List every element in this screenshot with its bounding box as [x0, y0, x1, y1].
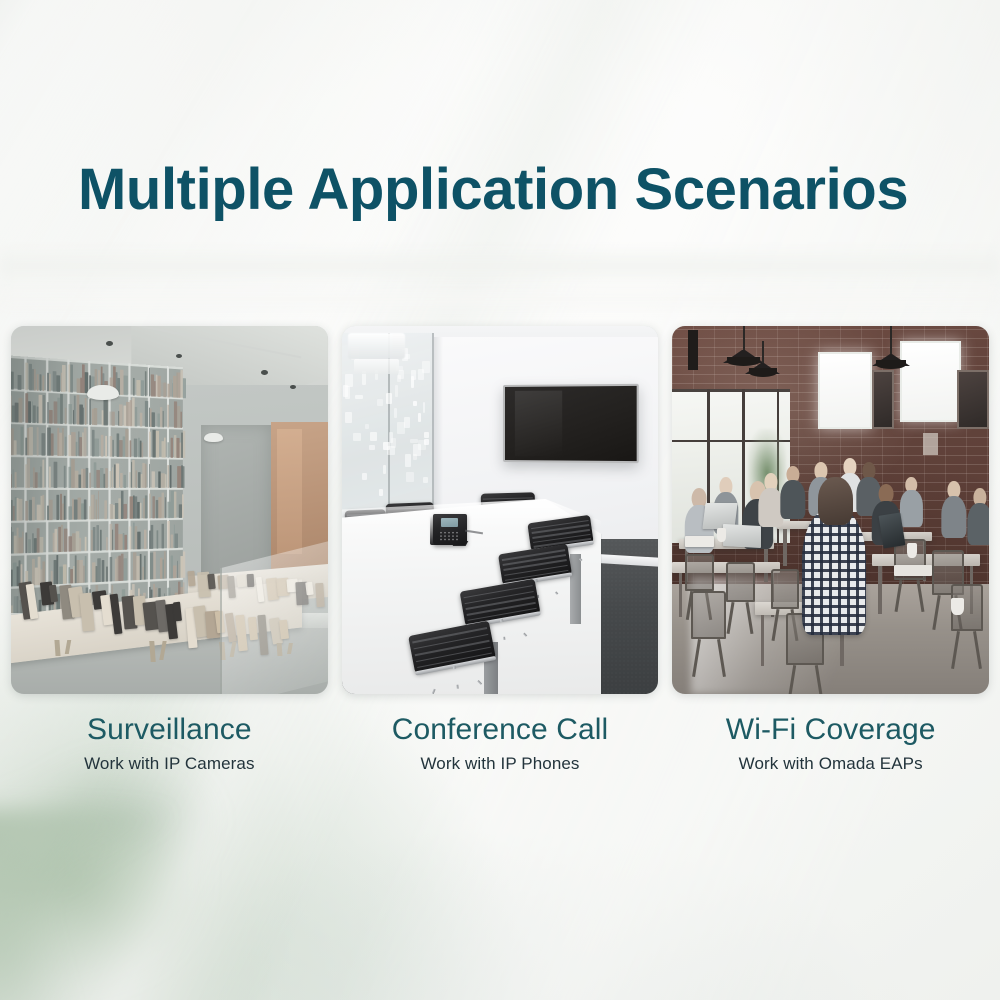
- scenario-card-wifi-coverage[interactable]: [672, 326, 989, 694]
- wall-art-1: [872, 370, 894, 429]
- ip-desk-phone: [430, 506, 470, 546]
- scenario-card-surveillance[interactable]: [11, 326, 328, 694]
- cafe-person: [780, 466, 805, 518]
- caption-title-conference-call: Conference Call: [342, 712, 659, 747]
- cafe-chair: [726, 562, 755, 602]
- page-title: Multiple Application Scenarios: [78, 160, 908, 221]
- paper: [685, 536, 714, 547]
- pendant-lamp-2: [745, 341, 780, 374]
- background-plant-fronds: [0, 810, 170, 1000]
- conference-room-photo: [342, 326, 659, 694]
- caption-title-surveillance: Surveillance: [11, 712, 328, 747]
- cafe-chair: [685, 554, 714, 591]
- scenario-card-conference-call[interactable]: [342, 326, 659, 694]
- paper: [894, 565, 932, 576]
- scenario-card-row: [11, 326, 989, 694]
- coffee-cup: [951, 598, 964, 615]
- wall-mounted-tv: [503, 384, 639, 464]
- caption-subtitle-wifi-coverage: Work with Omada EAPs: [672, 754, 989, 774]
- cafe-person: [900, 477, 922, 525]
- caption-conference-call: Conference Call Work with IP Phones: [342, 712, 659, 774]
- coffee-cup: [907, 543, 917, 558]
- person-foreground-plaid: [802, 510, 865, 635]
- pendant-lamp-3: [872, 326, 910, 366]
- caption-surveillance: Surveillance Work with IP Cameras: [11, 712, 328, 774]
- caption-wifi-coverage: Wi-Fi Coverage Work with Omada EAPs: [672, 712, 989, 774]
- caption-row: Surveillance Work with IP Cameras Confer…: [11, 712, 989, 774]
- coffee-cup: [717, 528, 727, 541]
- caption-title-wifi-coverage: Wi-Fi Coverage: [672, 712, 989, 747]
- window-1: [818, 352, 872, 429]
- library-bookstore-photo: [11, 326, 328, 694]
- cafe-chair: [771, 569, 800, 609]
- cafe-person: [942, 481, 967, 536]
- cafe-person: [967, 488, 989, 543]
- laptop: [723, 524, 761, 548]
- cafe-coworking-photo: [672, 326, 989, 694]
- caption-subtitle-conference-call: Work with IP Phones: [342, 754, 659, 774]
- caption-subtitle-surveillance: Work with IP Cameras: [11, 754, 328, 774]
- cafe-chair: [691, 591, 726, 639]
- wall-art-2: [957, 370, 989, 429]
